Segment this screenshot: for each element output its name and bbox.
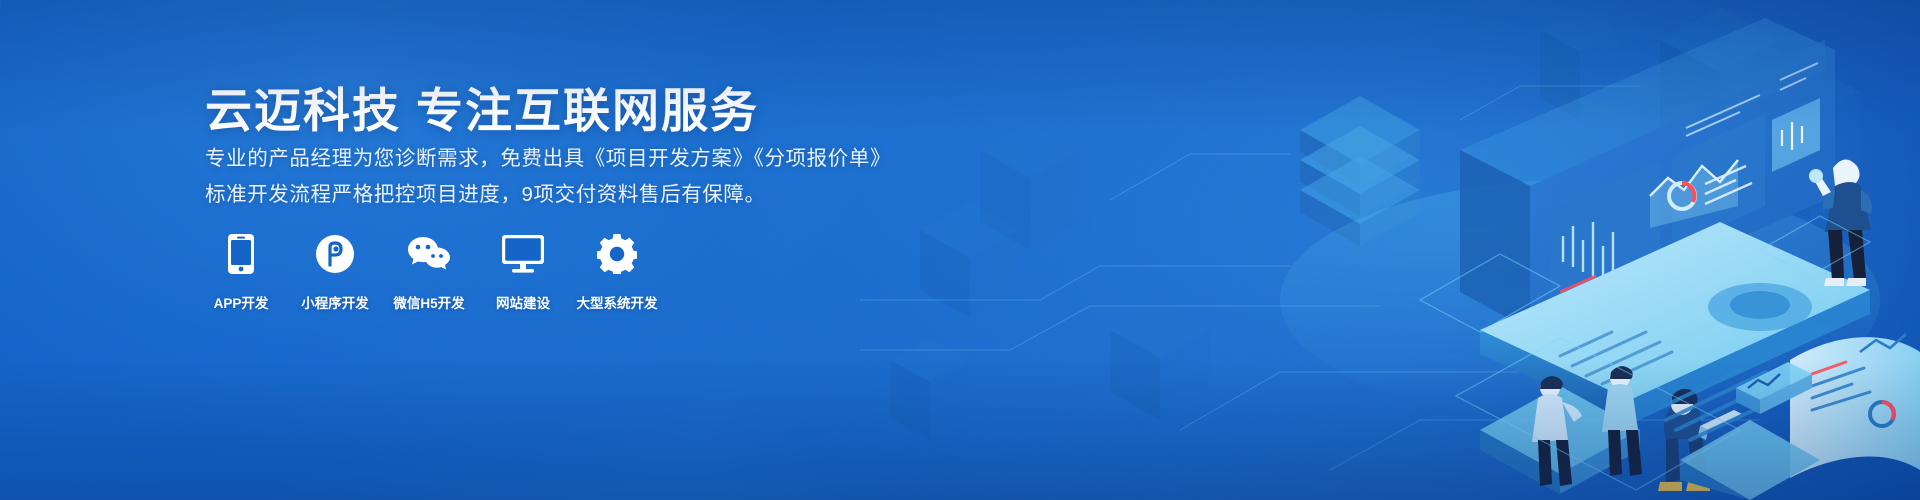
banner-copy: 云迈科技 专注互联网服务 专业的产品经理为您诊断需求，免费出具《项目开发方案》《… xyxy=(205,0,965,500)
mobile-phone-icon xyxy=(228,232,254,276)
service-item-large-system[interactable]: 大型系统开发 xyxy=(581,232,653,312)
service-label: APP开发 xyxy=(214,292,269,312)
subtitle-line-2: 标准开发流程严格把控项目进度，9项交付资料售后有保障。 xyxy=(205,178,766,212)
hero-banner: 云迈科技 专注互联网服务 专业的产品经理为您诊断需求，免费出具《项目开发方案》《… xyxy=(0,0,1920,500)
page-title: 云迈科技 专注互联网服务 xyxy=(205,72,759,141)
service-item-website[interactable]: 网站建设 xyxy=(487,232,559,312)
service-label: 微信H5开发 xyxy=(393,292,464,312)
wechat-icon xyxy=(407,232,451,276)
gear-icon xyxy=(597,232,637,276)
service-item-app[interactable]: APP开发 xyxy=(205,232,277,312)
service-item-mini-program[interactable]: 小程序开发 xyxy=(299,232,371,312)
mini-program-icon xyxy=(316,232,354,276)
service-item-wechat-h5[interactable]: 微信H5开发 xyxy=(393,232,465,312)
subtitle-line-1: 专业的产品经理为您诊断需求，免费出具《项目开发方案》《分项报价单》 xyxy=(205,142,891,176)
service-label: 网站建设 xyxy=(496,292,550,312)
isometric-technology-illustration xyxy=(860,0,1920,500)
service-label: 小程序开发 xyxy=(301,292,369,312)
monitor-icon xyxy=(502,232,544,276)
service-list: APP开发 小程序开发 xyxy=(205,232,675,312)
service-label: 大型系统开发 xyxy=(577,292,658,312)
